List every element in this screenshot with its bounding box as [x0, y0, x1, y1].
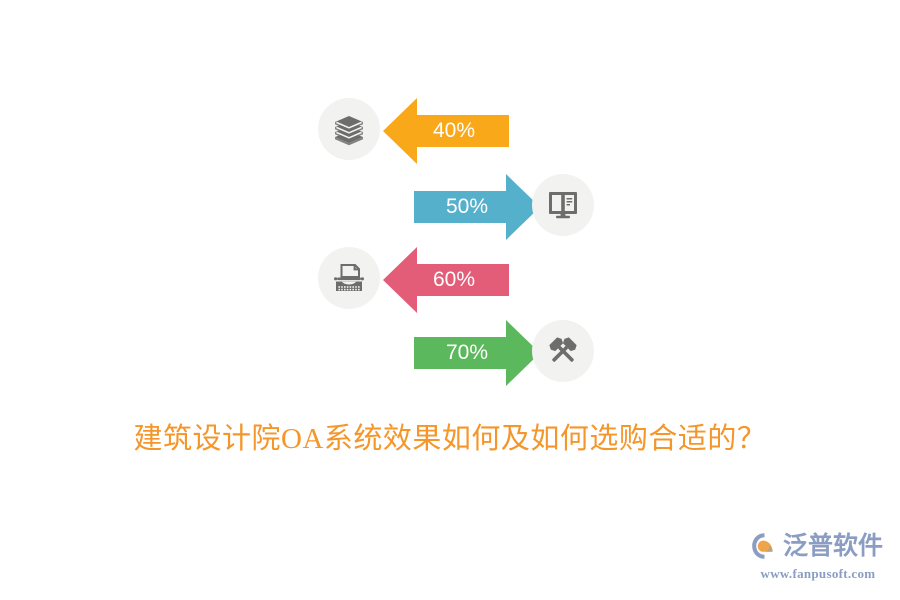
arrow-label-70: 70% [446, 341, 488, 365]
arrow-label-50: 50% [446, 195, 488, 219]
book-stack-icon [331, 111, 367, 147]
typewriter-icon [331, 260, 367, 296]
arrow-label-60: 60% [433, 268, 475, 292]
brand-logo-row: 泛普软件 [750, 528, 886, 564]
open-book-icon-circle [532, 174, 594, 236]
brand-watermark: 泛普软件 www.fanpusoft.com [750, 528, 886, 586]
typewriter-icon-circle [318, 247, 380, 309]
infographic-row-4: 70% [414, 317, 674, 393]
arrow-right-50: 50% [414, 174, 540, 240]
infographic-row-2: 50% [414, 171, 674, 247]
infographic-diagram: 40% 50% [0, 0, 900, 410]
arrow-right-70: 70% [414, 320, 540, 386]
screenshot-canvas: 40% 50% [0, 0, 900, 600]
crossed-hammers-icon [545, 333, 581, 369]
open-book-icon [545, 187, 581, 223]
arrow-left-60: 60% [383, 247, 509, 313]
arrow-label-40: 40% [433, 119, 475, 143]
fanpu-logo-icon [750, 531, 780, 561]
infographic-row-3: 60% [318, 244, 578, 320]
brand-url: www.fanpusoft.com [750, 566, 886, 582]
crossed-hammers-icon-circle [532, 320, 594, 382]
arrow-left-40: 40% [383, 98, 509, 164]
brand-name: 泛普软件 [783, 534, 883, 559]
page-title: 建筑设计院OA系统效果如何及如何选购合适的？ [0, 415, 900, 457]
infographic-row-1: 40% [318, 95, 578, 171]
book-stack-icon-circle [318, 98, 380, 160]
